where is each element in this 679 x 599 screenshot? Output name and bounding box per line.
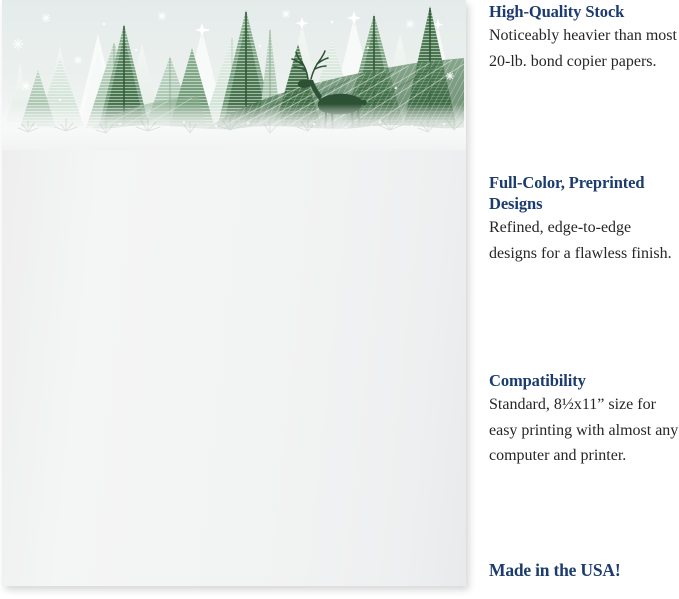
feature-body: Noticeably heavier than most 20-lb. bond… bbox=[489, 23, 679, 74]
winter-forest-border-artwork bbox=[2, 0, 466, 150]
feature-high-quality-stock: High-Quality Stock Noticeably heavier th… bbox=[489, 1, 679, 74]
feature-compatibility: Compatibility Standard, 8½x11” size for … bbox=[489, 370, 679, 469]
feature-body: Refined, edge-to-edge designs for a flaw… bbox=[489, 215, 679, 266]
feature-list: High-Quality Stock Noticeably heavier th… bbox=[489, 0, 679, 599]
feature-heading: High-Quality Stock bbox=[489, 1, 679, 22]
feature-heading: Full-Color, Preprinted Designs bbox=[489, 172, 679, 214]
made-in-usa-label: Made in the USA! bbox=[489, 558, 679, 582]
stationery-sheet bbox=[2, 0, 466, 586]
feature-full-color-preprinted-designs: Full-Color, Preprinted Designs Refined, … bbox=[489, 172, 679, 266]
feature-heading: Compatibility bbox=[489, 370, 679, 391]
paper-product-image bbox=[0, 0, 468, 599]
feature-body: Standard, 8½x11” size for easy printing … bbox=[489, 392, 679, 469]
